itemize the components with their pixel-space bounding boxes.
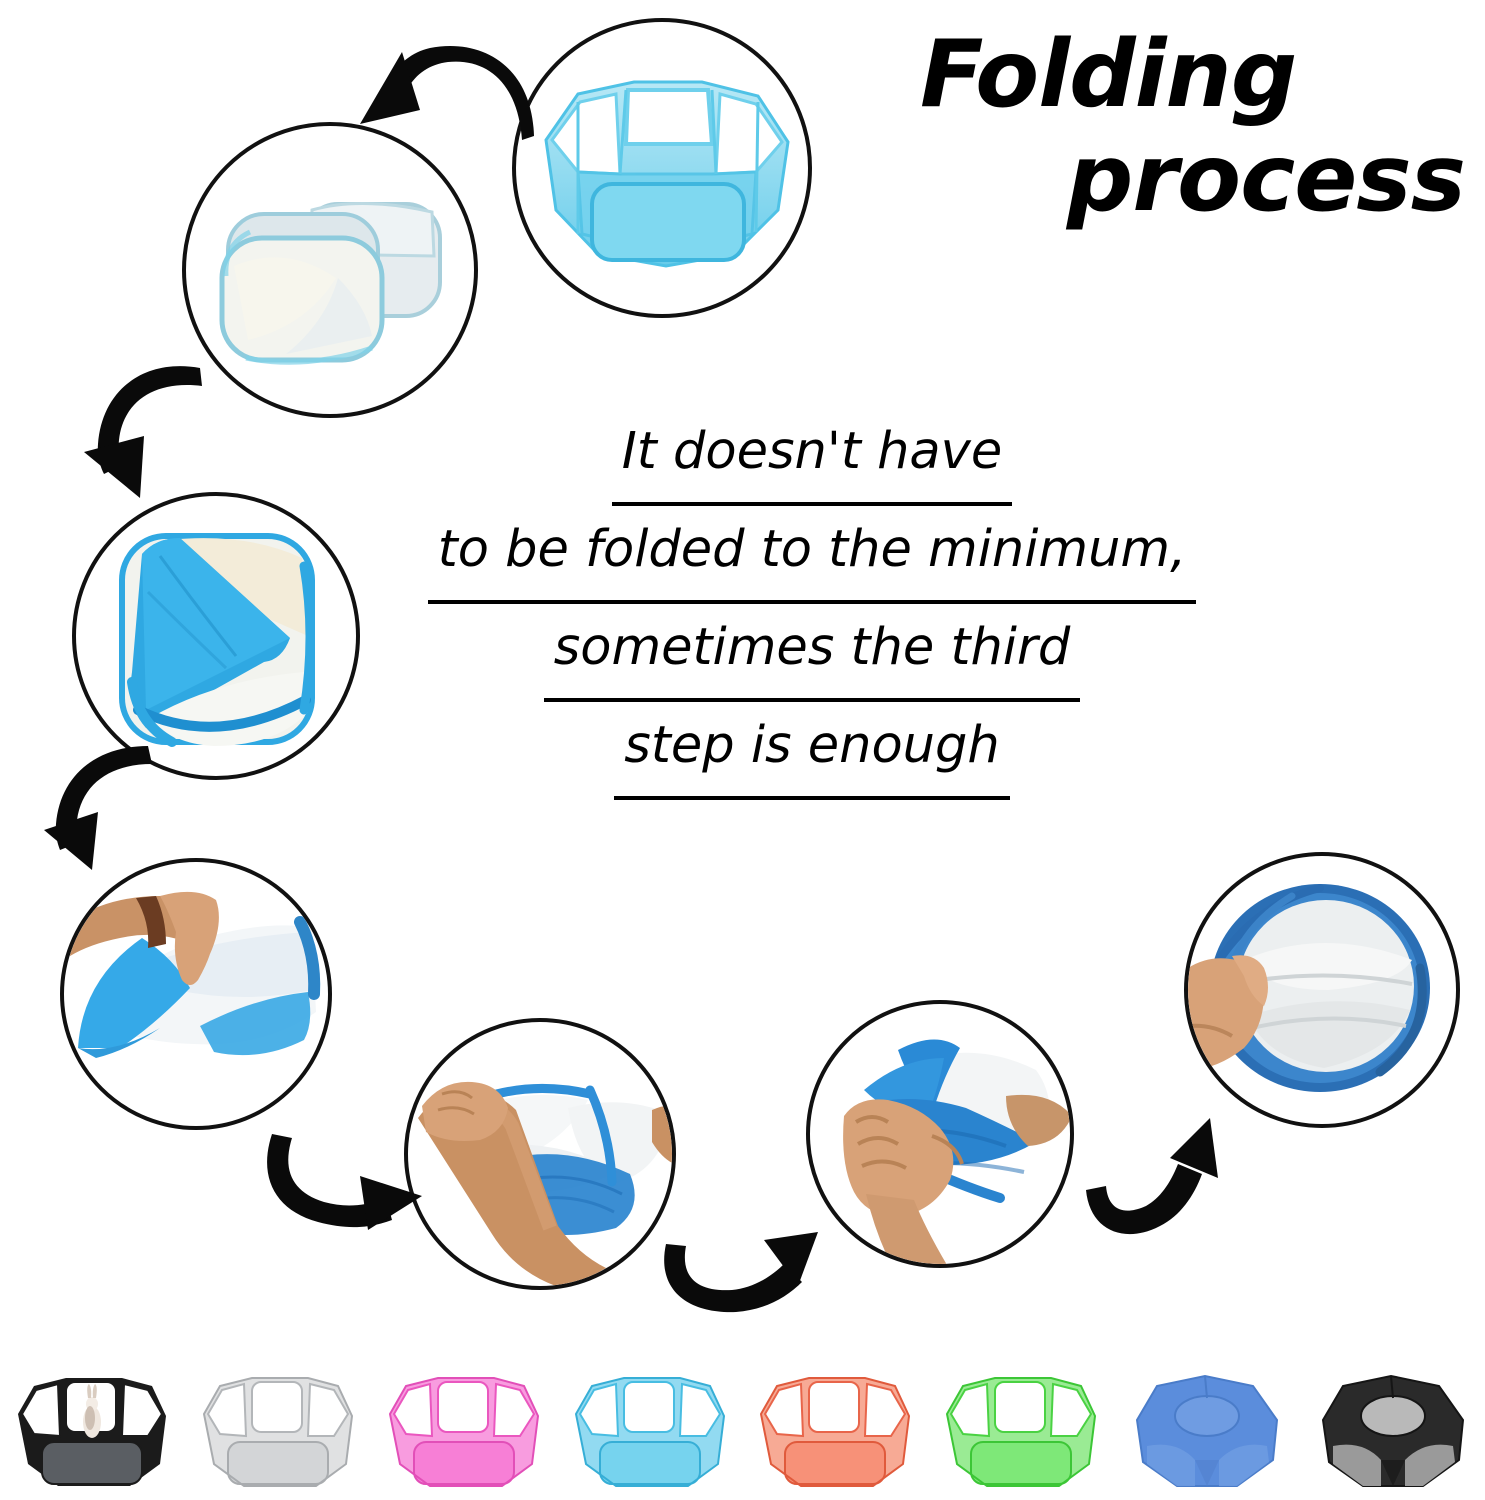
arrow-step4-to-step5 bbox=[256, 1128, 446, 1268]
note-line-2-wrap: to be folded to the minimum, bbox=[392, 506, 1232, 604]
step-2-collapsed-flat bbox=[182, 122, 478, 418]
arm-holding-illustration bbox=[408, 1022, 672, 1286]
step-3-folded-triangle bbox=[72, 492, 360, 780]
step-4-hand-pressing-fold bbox=[60, 858, 332, 1130]
assembled-playpen-illustration bbox=[516, 22, 808, 314]
arrow-step3-to-step4 bbox=[44, 742, 164, 872]
color-variants-row bbox=[0, 1340, 1485, 1500]
variant-black-covered-illustration bbox=[1313, 1368, 1473, 1496]
variant-light-blue[interactable] bbox=[564, 1350, 736, 1500]
page-title: Folding process bbox=[920, 22, 1465, 230]
folded-triangle-illustration bbox=[76, 496, 356, 776]
final-circle-illustration bbox=[1188, 856, 1456, 1124]
collapsed-flat-illustration bbox=[186, 126, 474, 414]
variant-blue-covered-illustration bbox=[1127, 1368, 1287, 1496]
arrow-step2-to-step3 bbox=[82, 362, 217, 502]
step-1-assembled-playpen bbox=[512, 18, 812, 318]
step-5-photo bbox=[408, 1022, 672, 1286]
variant-green[interactable] bbox=[935, 1350, 1107, 1500]
variant-orange[interactable] bbox=[749, 1350, 921, 1500]
variant-black-illustration bbox=[12, 1368, 172, 1496]
step-3-photo bbox=[76, 496, 356, 776]
note-line-4-wrap: step is enough bbox=[392, 702, 1232, 800]
note-line-3-wrap: sometimes the third bbox=[392, 604, 1232, 702]
step-1-photo bbox=[516, 22, 808, 314]
variant-light-blue-illustration bbox=[570, 1368, 730, 1496]
step-7-final-compact-circle bbox=[1184, 852, 1460, 1128]
folding-note: It doesn't have to be folded to the mini… bbox=[392, 408, 1232, 800]
folding-process-infographic: Folding process It doesn't have to be fo… bbox=[0, 0, 1485, 1500]
variant-blue-covered[interactable] bbox=[1121, 1350, 1293, 1500]
variant-gray[interactable] bbox=[192, 1350, 364, 1500]
step-4-photo bbox=[64, 862, 328, 1126]
step-7-photo bbox=[1188, 856, 1456, 1124]
arrow-step1-to-step2 bbox=[352, 26, 542, 156]
variant-orange-illustration bbox=[755, 1368, 915, 1496]
variant-gray-illustration bbox=[198, 1368, 358, 1496]
variant-pink[interactable] bbox=[378, 1350, 550, 1500]
hand-pressing-illustration bbox=[64, 862, 328, 1126]
arrow-step5-to-step6 bbox=[652, 1206, 852, 1336]
title-line-1: Folding bbox=[920, 22, 1465, 126]
variant-black[interactable] bbox=[6, 1350, 178, 1500]
step-2-photo bbox=[186, 126, 474, 414]
variant-black-covered[interactable] bbox=[1307, 1350, 1479, 1500]
title-line-2: process bbox=[920, 126, 1465, 230]
note-line-1-wrap: It doesn't have bbox=[392, 408, 1232, 506]
note-line-2: to be folded to the minimum, bbox=[428, 506, 1197, 604]
note-line-3: sometimes the third bbox=[544, 604, 1081, 702]
note-line-4: step is enough bbox=[614, 702, 1009, 800]
variant-green-illustration bbox=[941, 1368, 1101, 1496]
note-line-1: It doesn't have bbox=[612, 408, 1012, 506]
variant-pink-illustration bbox=[384, 1368, 544, 1496]
arrow-step6-to-step7 bbox=[1082, 1108, 1272, 1258]
